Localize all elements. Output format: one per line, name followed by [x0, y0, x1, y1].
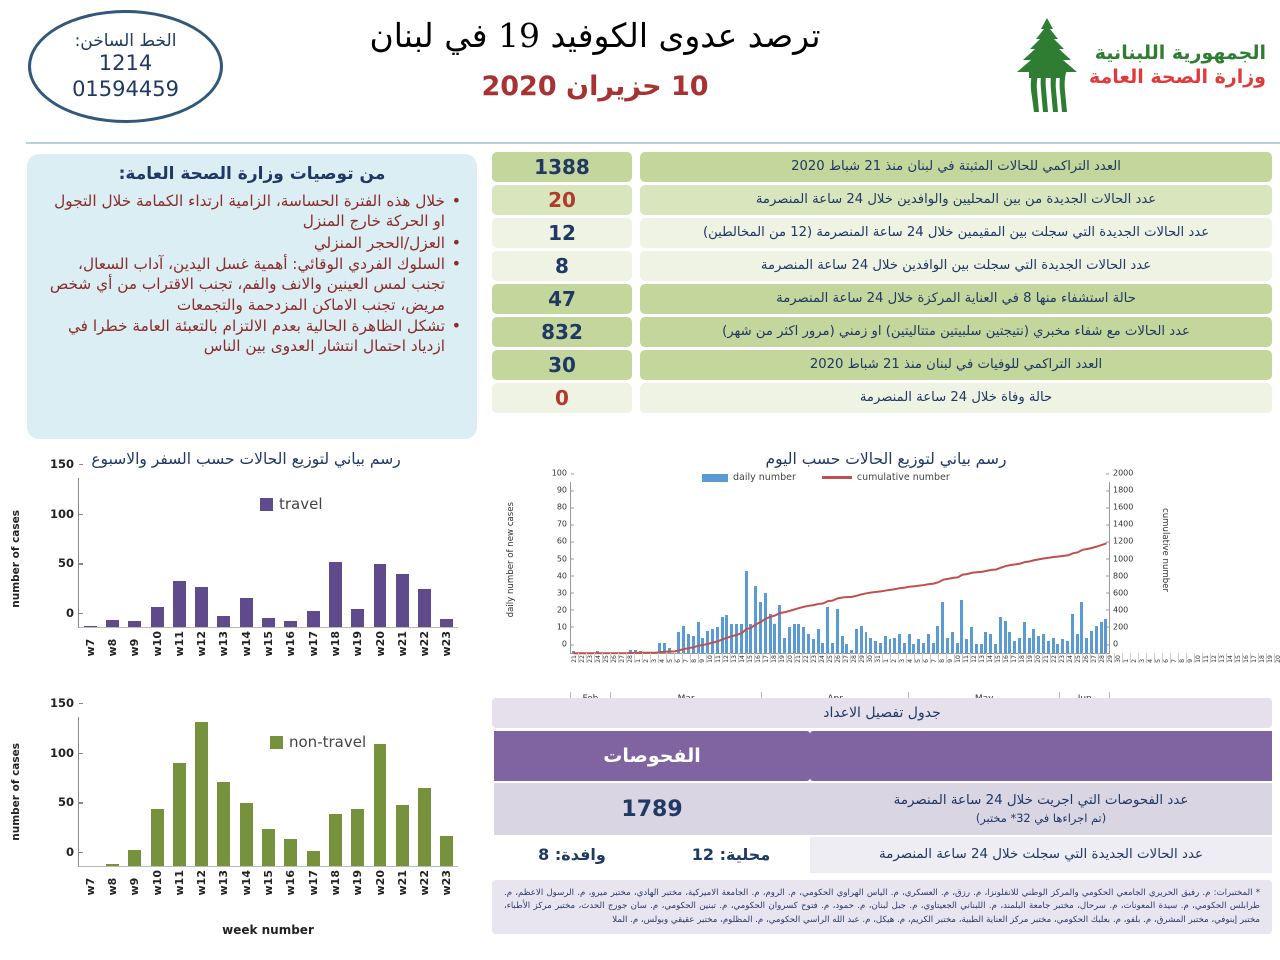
daily-date-tick: 25: [603, 653, 611, 663]
y-axis-tick: 100: [46, 507, 79, 521]
daily-left-tick: 80: [557, 503, 571, 512]
daily-date-tick: 23: [811, 653, 819, 663]
table-row: حالة استشفاء منها 8 في العناية المركزة خ…: [492, 284, 1272, 314]
bar: [173, 581, 186, 627]
daily-date-tick: 1: [635, 653, 643, 663]
stat-value: 12: [492, 218, 632, 248]
x-axis-tick: w17: [302, 866, 324, 895]
daily-date-tick: 5: [667, 653, 675, 663]
report-date: 10 حزيران 2020: [250, 71, 940, 102]
daily-left-tick: 20: [557, 605, 571, 614]
daily-date-tick: 24: [595, 653, 603, 663]
hotline-badge: الخط الساخن: 1214 01594459: [28, 10, 223, 123]
bar: [307, 851, 320, 866]
daily-date-tick: 20: [1035, 653, 1043, 663]
table-row: حالة وفاة خلال 24 ساعة المنصرمة0: [492, 383, 1272, 413]
y-axis-tick: 50: [54, 556, 79, 570]
y-axis-tick: 0: [62, 845, 79, 859]
non-travel-legend: non-travel: [270, 733, 366, 751]
daily-date-tick: 13: [731, 653, 739, 663]
y-axis-tick: 0: [62, 606, 79, 620]
daily-date-tick: 4: [907, 653, 915, 663]
bar: [396, 805, 409, 866]
daily-date-tick: 23: [1059, 653, 1067, 663]
laboratories-footnote: * المختبرات: م. رفيق الحريري الجامعي الح…: [492, 880, 1272, 934]
stat-value: 832: [492, 317, 632, 347]
legend-swatch-daily: [702, 474, 728, 482]
tests-count-description: عدد الفحوصات التي اجريت خلال 24 ساعة الم…: [810, 783, 1272, 835]
daily-date-tick: 9: [1187, 653, 1195, 663]
daily-date-tick: 25: [827, 653, 835, 663]
hotline-label: الخط الساخن:: [75, 31, 177, 52]
daily-left-tick: 10: [557, 622, 571, 631]
bar-slot: [190, 478, 212, 627]
stat-value: 30: [492, 350, 632, 380]
bar-slot: [235, 717, 257, 866]
daily-date-tick: 7: [931, 653, 939, 663]
bar: [418, 788, 431, 866]
new-cases-local: محلية: 12: [652, 837, 810, 872]
report-body: من توصيات وزارة الصحة العامة: خلال هذه ا…: [0, 150, 1280, 960]
tests-header-label: الفحوصات: [492, 731, 810, 781]
bar-slot: [324, 478, 346, 627]
daily-date-tick: 26: [611, 653, 619, 663]
title-block: ترصد عدوى الكوفيد 19 في لبنان 10 حزيران …: [250, 14, 940, 102]
bar: [195, 722, 208, 866]
daily-date-tick: 19: [1027, 653, 1035, 663]
daily-date-tick: 5: [915, 653, 923, 663]
table-row: عدد الحالات الجديدة التي سجلت بين المقيم…: [492, 218, 1272, 248]
daily-date-tick: 10: [1195, 653, 1203, 663]
daily-left-tick: 90: [557, 486, 571, 495]
bar: [396, 574, 409, 627]
report-page: الخط الساخن: 1214 01594459 ترصد عدوى الك…: [0, 0, 1280, 960]
list-item: السلوك الفردي الوقائي: أهمية غسل اليدين،…: [41, 254, 463, 315]
x-axis-tick: w13: [213, 866, 235, 895]
daily-date-tick: 3: [651, 653, 659, 663]
bar-slot: [124, 478, 146, 627]
travel-cases-chart: رسم بياني لتوزيع الحالات حسب السفر والاس…: [0, 450, 492, 680]
daily-date-tick: 11: [963, 653, 971, 663]
bar: [329, 562, 342, 627]
header-divider: [26, 142, 1280, 144]
daily-date-tick: 4: [659, 653, 667, 663]
new-cases-incoming: وافدة: 8: [494, 837, 652, 872]
bar-slot: [369, 478, 391, 627]
bar: [217, 616, 230, 627]
y-axis-tick: 150: [46, 457, 79, 471]
daily-right-tick: 1400: [1109, 520, 1133, 529]
bar-slot: [124, 717, 146, 866]
daily-date-tick: 10: [955, 653, 963, 663]
bar-series: [79, 717, 458, 866]
daily-date-tick: 17: [763, 653, 771, 663]
y-axis-tick: 150: [46, 696, 79, 710]
daily-date-tick: 26: [1083, 653, 1091, 663]
x-axis-tick: w19: [347, 627, 369, 656]
daily-right-tick: 1000: [1109, 554, 1133, 563]
list-item: تشكل الظاهرة الحالية بعدم الالتزام بالتع…: [41, 316, 463, 357]
daily-date-tick: 21: [571, 653, 579, 663]
travel-y-axis-label: number of cases: [10, 510, 22, 608]
bar: [440, 836, 453, 866]
daily-date-tick: 6: [1163, 653, 1171, 663]
bar: [374, 744, 387, 866]
daily-right-tick: 400: [1109, 605, 1128, 614]
non-travel-y-axis-label: number of cases: [10, 743, 22, 841]
tests-count-value: 1789: [492, 783, 810, 835]
table-row: عدد الحالات الجديدة التي سجلت خلال 24 سا…: [492, 837, 1272, 872]
recommendations-list: خلال هذه الفترة الحساسة، الزامية ارتداء …: [41, 191, 463, 357]
daily-date-tick: 3: [1139, 653, 1147, 663]
new-cases-description: عدد الحالات الجديدة التي سجلت خلال 24 سا…: [810, 837, 1272, 872]
daily-date-tick: 1: [883, 653, 891, 663]
bar: [151, 809, 164, 866]
daily-right-tick: 600: [1109, 588, 1128, 597]
table-row: عدد الحالات الجديدة التي سجلت بين الوافد…: [492, 251, 1272, 281]
x-axis-tick: w11: [168, 866, 190, 895]
daily-date-tick: 15: [747, 653, 755, 663]
daily-left-tick: 50: [557, 554, 571, 563]
hotline-number-primary: 1214: [99, 51, 152, 77]
recommendations-title: من توصيات وزارة الصحة العامة:: [41, 164, 463, 184]
stat-description: عدد الحالات الجديدة من بين المحليين والو…: [640, 185, 1272, 215]
bar-slot: [168, 478, 190, 627]
x-axis-labels: w7w8w9w10w11w12w13w14w15w16w17w18w19w20w…: [79, 627, 458, 656]
bar: [195, 587, 208, 627]
table-row: عدد الحالات الجديدة من بين المحليين والو…: [492, 185, 1272, 215]
daily-date-tick: 12: [971, 653, 979, 663]
daily-left-tick: 70: [557, 520, 571, 529]
daily-date-tick: 16: [1243, 653, 1251, 663]
daily-chart-title: رسم بياني لتوزيع الحالات حسب اليوم: [492, 450, 1280, 468]
daily-date-tick: 15: [1235, 653, 1243, 663]
x-axis-tick: w8: [101, 627, 123, 656]
summary-stats-table: العدد التراكمي للحالات المثبتة في لبنان …: [492, 152, 1272, 416]
x-axis-tick: w21: [391, 866, 413, 895]
daily-date-tick: 13: [1219, 653, 1227, 663]
daily-date-tick: 17: [1251, 653, 1259, 663]
ministry-logo-text: الجمهورية اللبنانية وزارة الصحة العامة: [1089, 42, 1266, 90]
daily-date-tick: 14: [1227, 653, 1235, 663]
daily-date-tick: 18: [1259, 653, 1267, 663]
daily-date-tick: 3: [899, 653, 907, 663]
x-axis-tick: w20: [369, 627, 391, 656]
bar: [262, 829, 275, 866]
bar-slot: [213, 717, 235, 866]
daily-date-tick: 8: [1179, 653, 1187, 663]
bar-slot: [235, 478, 257, 627]
daily-date-tick: 16: [755, 653, 763, 663]
page-header: الخط الساخن: 1214 01594459 ترصد عدوى الك…: [0, 0, 1280, 146]
daily-date-tick: 19: [779, 653, 787, 663]
daily-date-tick: 11: [1203, 653, 1211, 663]
x-axis-tick: w10: [146, 627, 168, 656]
x-axis-tick: w15: [257, 627, 279, 656]
daily-date-tick: 8: [691, 653, 699, 663]
daily-date-tick: 12: [1211, 653, 1219, 663]
stat-description: العدد التراكمي للوفيات في لبنان منذ 21 ش…: [640, 350, 1272, 380]
bar: [440, 619, 453, 627]
daily-right-tick: 2000: [1109, 469, 1133, 478]
x-axis-tick: w12: [190, 627, 212, 656]
bar-slot: [146, 478, 168, 627]
tests-header-blank: [810, 731, 1272, 781]
x-axis-tick: w21: [391, 627, 413, 656]
daily-date-tick: 30: [867, 653, 875, 663]
daily-date-tick: 26: [835, 653, 843, 663]
list-item: العزل/الحجر المنزلي: [41, 233, 463, 253]
daily-date-tick: 4: [1147, 653, 1155, 663]
daily-date-tick: 27: [619, 653, 627, 663]
bar-slot: [79, 717, 101, 866]
x-axis-tick: w19: [347, 866, 369, 895]
daily-date-tick: 11: [715, 653, 723, 663]
ministry-label: وزارة الصحة العامة: [1089, 66, 1266, 90]
tests-detail-table: جدول تفصيل الاعداد الفحوصات عدد الفحوصات…: [492, 698, 1272, 873]
daily-date-tick: 9: [947, 653, 955, 663]
bar: [173, 763, 186, 866]
legend-swatch-travel: [260, 498, 273, 511]
daily-date-tick: 6: [923, 653, 931, 663]
republic-label: الجمهورية اللبنانية: [1089, 42, 1266, 66]
daily-date-tick: 7: [1171, 653, 1179, 663]
daily-date-tick: 28: [627, 653, 635, 663]
daily-date-tick: 12: [723, 653, 731, 663]
daily-date-tick: 22: [579, 653, 587, 663]
x-axis-tick: w14: [235, 866, 257, 895]
bar-slot: [347, 478, 369, 627]
bar: [151, 607, 164, 627]
x-axis-tick: w15: [257, 866, 279, 895]
daily-date-tick: 9: [699, 653, 707, 663]
daily-date-tick: 10: [707, 653, 715, 663]
daily-date-tick: 19: [1267, 653, 1275, 663]
bar-slot: [168, 717, 190, 866]
daily-date-tick: 5: [1155, 653, 1163, 663]
travel-legend: travel: [260, 495, 323, 513]
y-axis-tick: 100: [46, 746, 79, 760]
bar-slot: [413, 717, 435, 866]
legend-swatch-non-travel: [270, 736, 283, 749]
daily-date-tick: 31: [875, 653, 883, 663]
daily-date-tick: 16: [1003, 653, 1011, 663]
daily-right-tick: 1200: [1109, 537, 1133, 546]
daily-date-tick: 30: [1115, 653, 1123, 663]
y-axis-tick: 50: [54, 795, 79, 809]
daily-left-tick: 100: [552, 469, 571, 478]
daily-right-tick: 800: [1109, 571, 1128, 580]
bar-slot: [436, 478, 458, 627]
bar: [351, 809, 364, 866]
tests-count-sub-text: (تم اجراءها في 32* مختبر): [824, 811, 1258, 826]
daily-date-tick: 24: [819, 653, 827, 663]
x-axis-tick: w16: [280, 866, 302, 895]
stat-value: 0: [492, 383, 632, 413]
daily-left-tick: 0: [562, 640, 571, 649]
daily-date-tick: 18: [1019, 653, 1027, 663]
x-axis-tick: w7: [79, 866, 101, 895]
ministry-logo: الجمهورية اللبنانية وزارة الصحة العامة: [1011, 16, 1266, 116]
non-travel-plot-area: 050100150w7w8w9w10w11w12w13w14w15w16w17w…: [78, 717, 458, 867]
bar: [418, 589, 431, 627]
stat-description: عدد الحالات الجديدة التي سجلت بين المقيم…: [640, 218, 1272, 248]
bar: [284, 839, 297, 866]
table-row: العدد التراكمي للحالات المثبتة في لبنان …: [492, 152, 1272, 182]
bar-slot: [369, 717, 391, 866]
legend-label-non-travel: non-travel: [289, 733, 366, 751]
x-axis-tick: w9: [124, 627, 146, 656]
new-cases-breakdown: محلية: 12 وافدة: 8: [492, 837, 810, 872]
bar-slot: [101, 717, 123, 866]
bar-slot: [213, 478, 235, 627]
stat-description: العدد التراكمي للحالات المثبتة في لبنان …: [640, 152, 1272, 182]
daily-date-tick: 2: [1131, 653, 1139, 663]
x-axis-tick: w18: [324, 627, 346, 656]
left-column: من توصيات وزارة الصحة العامة: خلال هذه ا…: [0, 150, 492, 960]
daily-cases-chart: رسم بياني لتوزيع الحالات حسب اليوم daily…: [492, 450, 1280, 700]
daily-date-tick: 27: [843, 653, 851, 663]
daily-date-tick: 25: [1075, 653, 1083, 663]
bar-slot: [79, 478, 101, 627]
bar-slot: [413, 478, 435, 627]
stat-description: عدد الحالات مع شفاء مخبري (نتيجتين سلبيت…: [640, 317, 1272, 347]
stat-value: 20: [492, 185, 632, 215]
daily-date-tick: 29: [859, 653, 867, 663]
bar: [329, 814, 342, 866]
daily-date-tick: 15: [995, 653, 1003, 663]
x-axis-tick: w13: [213, 627, 235, 656]
daily-right-tick: 200: [1109, 622, 1128, 631]
x-axis-tick: w11: [168, 627, 190, 656]
daily-date-tick: 14: [987, 653, 995, 663]
daily-left-tick: 30: [557, 588, 571, 597]
x-axis-tick: w9: [124, 866, 146, 895]
daily-date-tick: 6: [675, 653, 683, 663]
stat-value: 8: [492, 251, 632, 281]
daily-left-tick: 60: [557, 537, 571, 546]
tests-count-main-text: عدد الفحوصات التي اجريت خلال 24 ساعة الم…: [894, 793, 1189, 808]
legend-swatch-cumulative: [822, 476, 852, 479]
daily-date-tick: 2: [891, 653, 899, 663]
daily-date-tick: 8: [939, 653, 947, 663]
bar: [262, 618, 275, 627]
daily-plot-area: 0102030405060708090100020040060080010001…: [570, 482, 1110, 654]
daily-right-tick: 1600: [1109, 503, 1133, 512]
bar: [217, 782, 230, 866]
x-axis-tick: w7: [79, 627, 101, 656]
x-axis-tick: w14: [235, 627, 257, 656]
daily-date-tick: 17: [1011, 653, 1019, 663]
bar-slot: [101, 478, 123, 627]
page-title: ترصد عدوى الكوفيد 19 في لبنان: [250, 14, 940, 59]
bar-slot: [190, 717, 212, 866]
stat-value: 1388: [492, 152, 632, 182]
daily-date-tick: 18: [771, 653, 779, 663]
bar-slot: [436, 717, 458, 866]
bar: [240, 803, 253, 866]
daily-date-tick: 14: [739, 653, 747, 663]
daily-date-tick: 29: [1107, 653, 1115, 663]
x-axis-tick: w22: [413, 866, 435, 895]
stat-description: عدد الحالات الجديدة التي سجلت بين الوافد…: [640, 251, 1272, 281]
tests-table-header: الفحوصات: [492, 731, 1272, 781]
stat-description: حالة وفاة خلال 24 ساعة المنصرمة: [640, 383, 1272, 413]
x-axis-tick: w23: [436, 627, 458, 656]
x-axis-tick: w23: [436, 866, 458, 895]
daily-date-tick: 27: [1091, 653, 1099, 663]
tests-table-caption: جدول تفصيل الاعداد: [492, 698, 1272, 728]
bar: [374, 564, 387, 627]
daily-date-tick: 28: [851, 653, 859, 663]
x-axis-labels: w7w8w9w10w11w12w13w14w15w16w17w18w19w20w…: [79, 866, 458, 895]
daily-left-axis-label: daily number of new cases: [506, 502, 516, 617]
daily-date-tick: 22: [803, 653, 811, 663]
daily-date-tick: 20: [1275, 653, 1280, 663]
x-axis-tick: w8: [101, 866, 123, 895]
x-axis-tick: w10: [146, 866, 168, 895]
x-axis-tick: w18: [324, 866, 346, 895]
daily-date-ticks: 2122232425262728123456789101112131415161…: [571, 653, 1109, 663]
cumulative-line-series: [571, 482, 1109, 653]
daily-date-tick: 7: [683, 653, 691, 663]
x-axis-tick: w20: [369, 866, 391, 895]
daily-date-tick: 13: [979, 653, 987, 663]
stat-description: حالة استشفاء منها 8 في العناية المركزة خ…: [640, 284, 1272, 314]
daily-left-tick: 40: [557, 571, 571, 580]
list-item: خلال هذه الفترة الحساسة، الزامية ارتداء …: [41, 191, 463, 232]
daily-right-axis-label: cumulative number: [1160, 508, 1170, 592]
x-axis-tick: w17: [302, 627, 324, 656]
legend-label-travel: travel: [279, 495, 323, 513]
bar: [106, 620, 119, 627]
x-axis-tick: w12: [190, 866, 212, 895]
table-row: العدد التراكمي للوفيات في لبنان منذ 21 ش…: [492, 350, 1272, 380]
bar: [240, 598, 253, 627]
daily-date-tick: 21: [795, 653, 803, 663]
bar-slot: [146, 717, 168, 866]
daily-date-tick: 21: [1043, 653, 1051, 663]
table-row: عدد الحالات مع شفاء مخبري (نتيجتين سلبيت…: [492, 317, 1272, 347]
bar-slot: [391, 717, 413, 866]
recommendations-panel: من توصيات وزارة الصحة العامة: خلال هذه ا…: [27, 154, 477, 439]
daily-date-tick: 20: [787, 653, 795, 663]
stat-value: 47: [492, 284, 632, 314]
non-travel-cases-chart: number of cases 050100150w7w8w9w10w11w12…: [0, 705, 492, 955]
table-row: عدد الفحوصات التي اجريت خلال 24 ساعة الم…: [492, 783, 1272, 835]
daily-date-tick: 2: [643, 653, 651, 663]
right-column: العدد التراكمي للحالات المثبتة في لبنان …: [492, 150, 1280, 960]
daily-date-tick: 24: [1067, 653, 1075, 663]
daily-date-tick: 23: [587, 653, 595, 663]
daily-date-tick: 22: [1051, 653, 1059, 663]
x-axis-tick: w16: [280, 627, 302, 656]
x-axis-tick: w22: [413, 627, 435, 656]
bar: [128, 850, 141, 866]
non-travel-x-axis-label: week number: [78, 923, 458, 937]
daily-right-tick: 0: [1109, 640, 1118, 649]
bar-slot: [391, 478, 413, 627]
cedar-tree-hands-icon: [1011, 16, 1083, 116]
daily-date-tick: 28: [1099, 653, 1107, 663]
daily-date-tick: 1: [1123, 653, 1131, 663]
bar: [307, 611, 320, 627]
bar: [351, 609, 364, 627]
daily-right-tick: 1800: [1109, 486, 1133, 495]
hotline-number-secondary: 01594459: [72, 77, 179, 103]
